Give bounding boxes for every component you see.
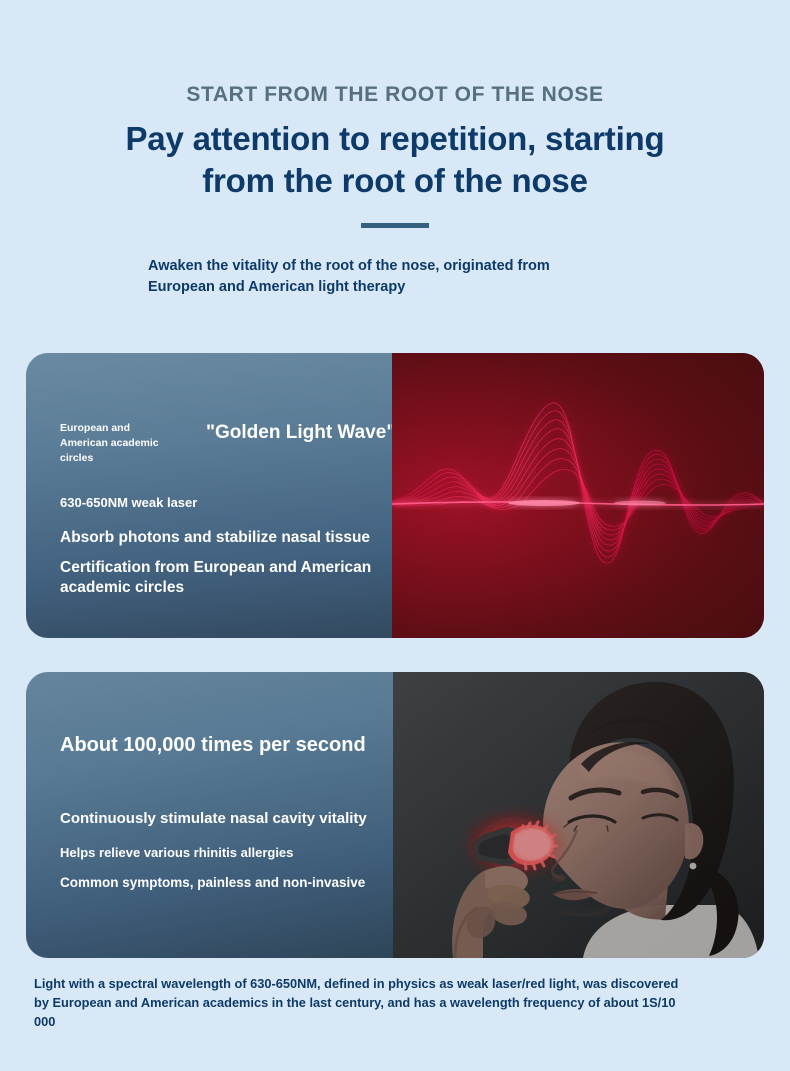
subtitle-line-1: Awaken the vitality of the root of the n… [148,256,670,277]
card-two-bullet-1: Continuously stimulate nasal cavity vita… [60,810,367,827]
headline-line-1: Pay attention to repetition, starting [0,118,790,160]
small-label-line-1: European and [60,421,190,436]
card-one-bullet-2: Certification from European and American… [60,558,400,598]
footer-line-1: Light with a spectral wavelength of 630-… [34,974,760,993]
title-divider [361,223,429,228]
small-label-line-2: American academic [60,436,190,451]
footer-line-2: by European and American academics in th… [34,993,760,1012]
card-two-image-panel [393,672,764,958]
headline-line-2: from the root of the nose [0,160,790,202]
small-label-line-3: circles [60,451,190,466]
footer-disclaimer: Light with a spectral wavelength of 630-… [34,974,760,1032]
sound-wave-icon [392,353,764,638]
card-two-title: About 100,000 times per second [60,734,366,757]
card-two-bullet-3: Common symptoms, painless and non-invasi… [60,875,365,890]
divider-wrapper [0,223,790,228]
card-one-bullet-2-line-2: academic circles [60,578,400,598]
card-one-bullet-1: Absorb photons and stabilize nasal tissu… [60,529,370,547]
card-one-image-panel [392,353,764,638]
card-one-title: "Golden Light Wave" [206,422,395,444]
feature-card-golden-light-wave: European and American academic circles "… [26,353,764,638]
card-one-text-panel: European and American academic circles "… [26,353,392,638]
card-one-small-label: European and American academic circles [60,421,190,466]
card-two-bullet-2: Helps relieve various rhinitis allergies [60,845,293,860]
footer-line-3: 000 [34,1012,760,1031]
card-two-text-panel: About 100,000 times per second Continuou… [26,672,393,958]
red-sound-wave-graphic [392,353,764,638]
page-header: START FROM THE ROOT OF THE NOSE Pay atte… [0,0,790,298]
subtitle-line-2: European and American light therapy [148,277,670,298]
eyebrow-text: START FROM THE ROOT OF THE NOSE [0,82,790,108]
feature-card-stimulation-frequency: About 100,000 times per second Continuou… [26,672,764,958]
portrait-photo-illustration [393,672,764,958]
card-one-bullet-2-line-1: Certification from European and American [60,558,400,578]
card-one-spec: 630-650NM weak laser [60,495,197,510]
subtitle-text: Awaken the vitality of the root of the n… [0,256,790,298]
page-title: Pay attention to repetition, starting fr… [0,118,790,202]
product-marketing-page: { "header": { "eyebrow": "START FROM THE… [0,0,790,1071]
woman-using-red-light-nasal-device [393,672,764,958]
